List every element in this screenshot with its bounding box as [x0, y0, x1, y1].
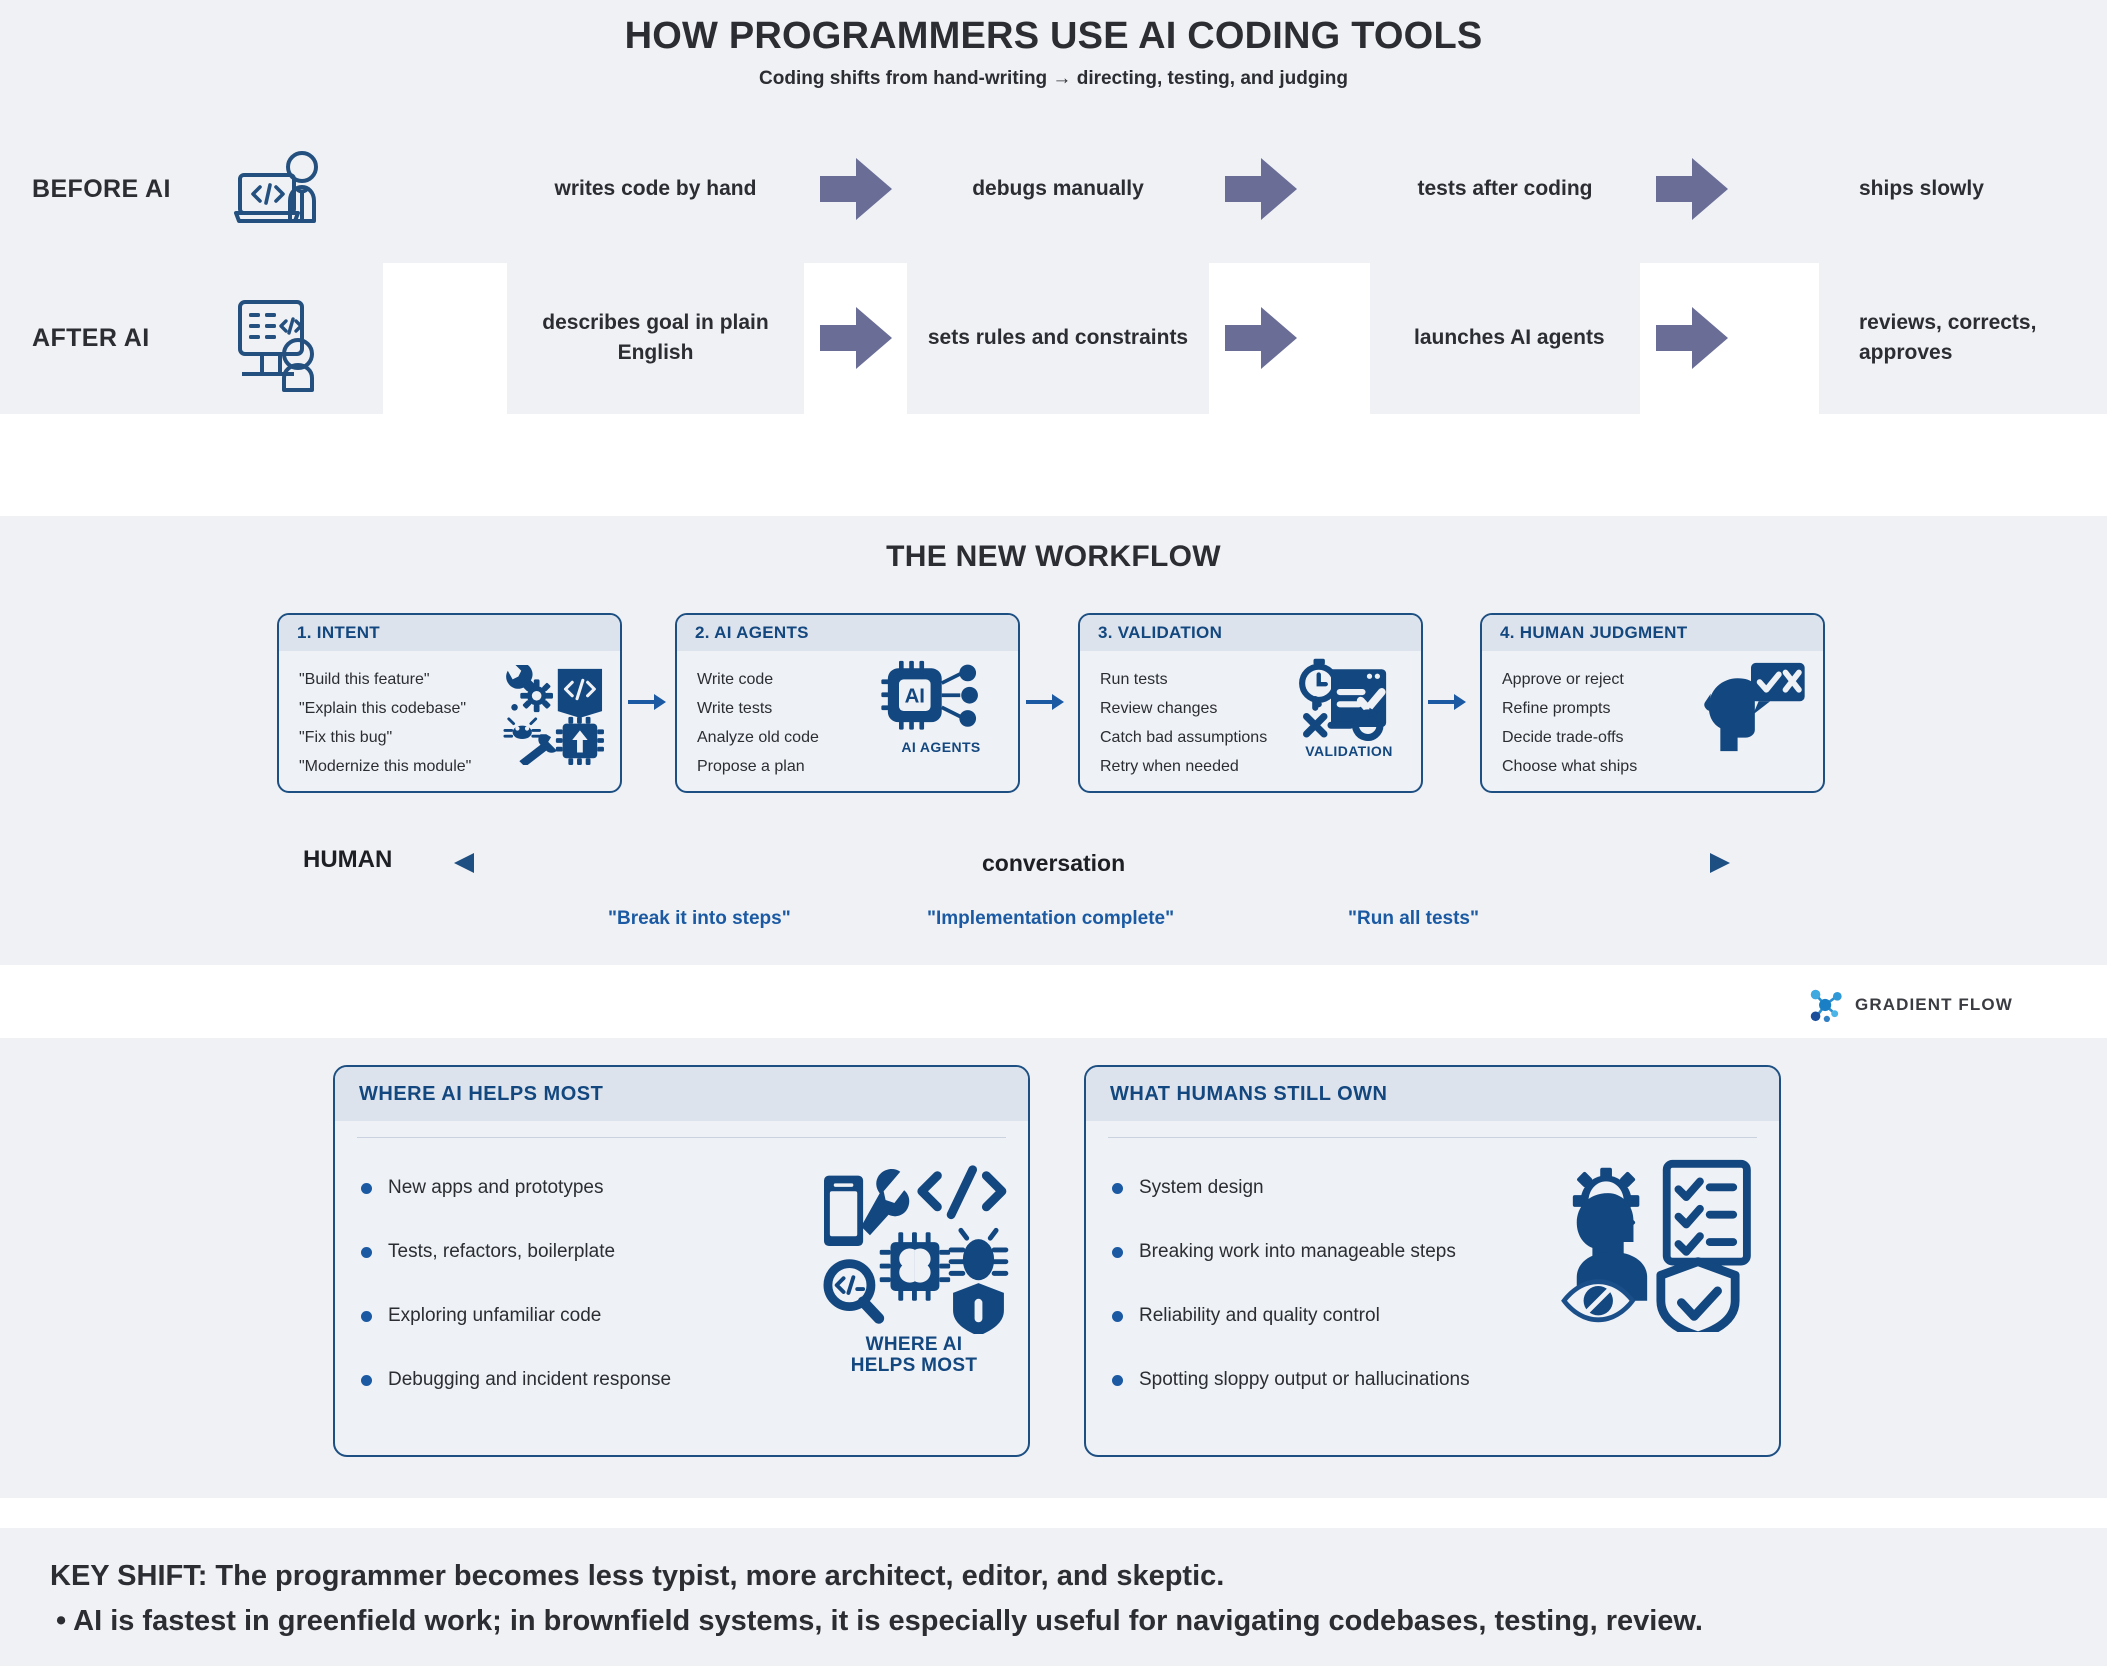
band-key-shift [0, 1528, 2107, 1666]
row-label-box-after: AFTER AI [0, 262, 383, 414]
workflow-card-human-judgment[interactable]: 4. HUMAN JUDGMENT Approve or reject Refi… [1480, 613, 1825, 793]
bullet-dot-icon [1112, 1247, 1123, 1258]
workflow-card-intent[interactable]: 1. INTENT "Build this feature" "Explain … [277, 613, 622, 793]
card-line: Propose a plan [697, 752, 1018, 781]
bullet-dot-icon [361, 1375, 372, 1386]
laptop-coder-icon [232, 145, 328, 233]
workflow-card-validation[interactable]: 3. VALIDATION Run tests Review changes C… [1078, 613, 1423, 793]
workflow-arrow-2 [1026, 690, 1066, 714]
svg-text:AI: AI [905, 686, 925, 708]
card-art-label-validation: VALIDATION [1289, 743, 1409, 759]
bullet-label: Tests, refactors, boilerplate [388, 1241, 615, 1263]
monitor-coder-icon [232, 294, 328, 382]
panel-body-where-ai-helps: New apps and prototypes Tests, refactors… [335, 1138, 1028, 1412]
page-title: HOW PROGRAMMERS USE AI CODING TOOLS [0, 15, 2107, 58]
bullet-dot-icon [1112, 1311, 1123, 1322]
bullet-label: Breaking work into manageable steps [1139, 1241, 1456, 1263]
bullet-label: Spotting sloppy output or hallucinations [1139, 1369, 1470, 1391]
card-body-ai-agents: Write code Write tests Analyze old code … [677, 651, 1018, 793]
workflow-arrow-1 [628, 690, 668, 714]
conversation-mid-label: conversation [982, 850, 1125, 877]
card-art-label-ai-agents: AI AGENTS [876, 739, 1006, 755]
arrow-before-3 [1648, 129, 1736, 249]
workflow-arrow-3 [1428, 690, 1468, 714]
infographic-page: HOW PROGRAMMERS USE AI CODING TOOLS Codi… [0, 0, 2107, 1666]
card-body-human-judgment: Approve or reject Refine prompts Decide … [1482, 651, 1823, 793]
card-body-validation: Run tests Review changes Catch bad assum… [1080, 651, 1421, 793]
right-arrow-icon [818, 156, 894, 222]
right-arrow-icon [1654, 305, 1730, 371]
right-arrow-icon [1223, 156, 1299, 222]
row-label-box-before: BEFORE AI [0, 129, 383, 249]
stage-after-4: reviews, corrects, approves [1819, 262, 2107, 414]
bullet-dot-icon [1112, 1183, 1123, 1194]
page-subtitle: Coding shifts from hand-writing → direct… [0, 68, 2107, 90]
art-label-line2: HELPS MOST [814, 1355, 1014, 1376]
row-label-before: BEFORE AI [32, 175, 232, 204]
card-body-intent: "Build this feature" "Explain this codeb… [279, 651, 620, 793]
stage-before-3: tests after coding [1370, 129, 1640, 249]
card-heading-human-judgment: 4. HUMAN JUDGMENT [1482, 615, 1823, 651]
arrow-before-2 [1217, 129, 1305, 249]
arrow-before-1 [812, 129, 900, 249]
validation-icon-group: VALIDATION [1289, 657, 1409, 759]
row-label-after: AFTER AI [32, 324, 232, 353]
bullet-dot-icon [361, 1183, 372, 1194]
brand-logo: GRADIENT FLOW [1806, 985, 2013, 1025]
card-heading-ai-agents: 2. AI AGENTS [677, 615, 1018, 651]
conversation-quote-3: "Run all tests" [1348, 908, 1479, 930]
workflow-card-ai-agents[interactable]: 2. AI AGENTS Write code Write tests Anal… [675, 613, 1020, 793]
bullet-label: Reliability and quality control [1139, 1305, 1380, 1327]
card-heading-intent: 1. INTENT [279, 615, 620, 651]
key-shift-line-2: • AI is fastest in greenfield work; in b… [56, 1605, 1703, 1638]
stage-before-4: ships slowly [1819, 129, 2107, 249]
bullet-label: New apps and prototypes [388, 1177, 603, 1199]
bullet-dot-icon [361, 1311, 372, 1322]
card-heading-validation: 3. VALIDATION [1080, 615, 1421, 651]
brand-name: GRADIENT FLOW [1855, 995, 2013, 1015]
arrow-after-3 [1648, 262, 1736, 414]
stage-after-3: launches AI agents [1370, 262, 1640, 414]
bullet-dot-icon [361, 1247, 372, 1258]
right-arrow-icon [1223, 305, 1299, 371]
ai-agents-icon-group: AI AI AGENTS [876, 659, 1006, 755]
right-arrow-icon [818, 305, 894, 371]
where-ai-helps-icon-group: WHERE AI HELPS MOST [814, 1158, 1014, 1377]
stage-after-1: describes goal in plain English [507, 262, 804, 414]
bullet-label: Debugging and incident response [388, 1369, 671, 1391]
gradient-flow-network-icon [1806, 985, 1846, 1025]
stage-after-2: sets rules and constraints [907, 262, 1209, 414]
conversation-human-label: HUMAN [303, 846, 392, 874]
bullet-label: System design [1139, 1177, 1264, 1199]
conversation-quote-1: "Break it into steps" [608, 908, 791, 930]
right-arrow-icon [1654, 156, 1730, 222]
what-humans-own-icon-group [1551, 1156, 1761, 1332]
bullet-label: Exploring unfamiliar code [388, 1305, 601, 1327]
card-line: Choose what ships [1502, 752, 1823, 781]
panel-where-ai-helps-most[interactable]: WHERE AI HELPS MOST New apps and prototy… [333, 1065, 1030, 1457]
panel-heading-where-ai-helps: WHERE AI HELPS MOST [335, 1067, 1028, 1121]
conversation-quote-2: "Implementation complete" [927, 908, 1174, 930]
panel-body-what-humans-own: System design Breaking work into managea… [1086, 1138, 1779, 1412]
key-shift-line-1: KEY SHIFT: The programmer becomes less t… [50, 1560, 1224, 1593]
intent-icon-group [500, 665, 606, 765]
human-judgment-icon-group [1693, 661, 1813, 755]
conversation-arrow-right [1222, 852, 1732, 874]
workflow-title: THE NEW WORKFLOW [0, 540, 2107, 574]
band-panels [0, 1038, 2107, 1498]
panel-heading-what-humans-own: WHAT HUMANS STILL OWN [1086, 1067, 1779, 1121]
comparison-row-after: AFTER AI [0, 262, 2107, 414]
comparison-row-before: BEFORE AI [0, 129, 2107, 249]
bullet-dot-icon [1112, 1375, 1123, 1386]
panel-what-humans-still-own[interactable]: WHAT HUMANS STILL OWN System design Brea… [1084, 1065, 1781, 1457]
stage-before-2: debugs manually [907, 129, 1209, 249]
conversation-arrow-left [452, 852, 957, 874]
stage-before-1: writes code by hand [507, 129, 804, 249]
arrow-after-1 [812, 262, 900, 414]
list-item: Spotting sloppy output or hallucinations [1112, 1348, 1779, 1412]
art-label-line1: WHERE AI [814, 1334, 1014, 1355]
arrow-after-2 [1217, 262, 1305, 414]
